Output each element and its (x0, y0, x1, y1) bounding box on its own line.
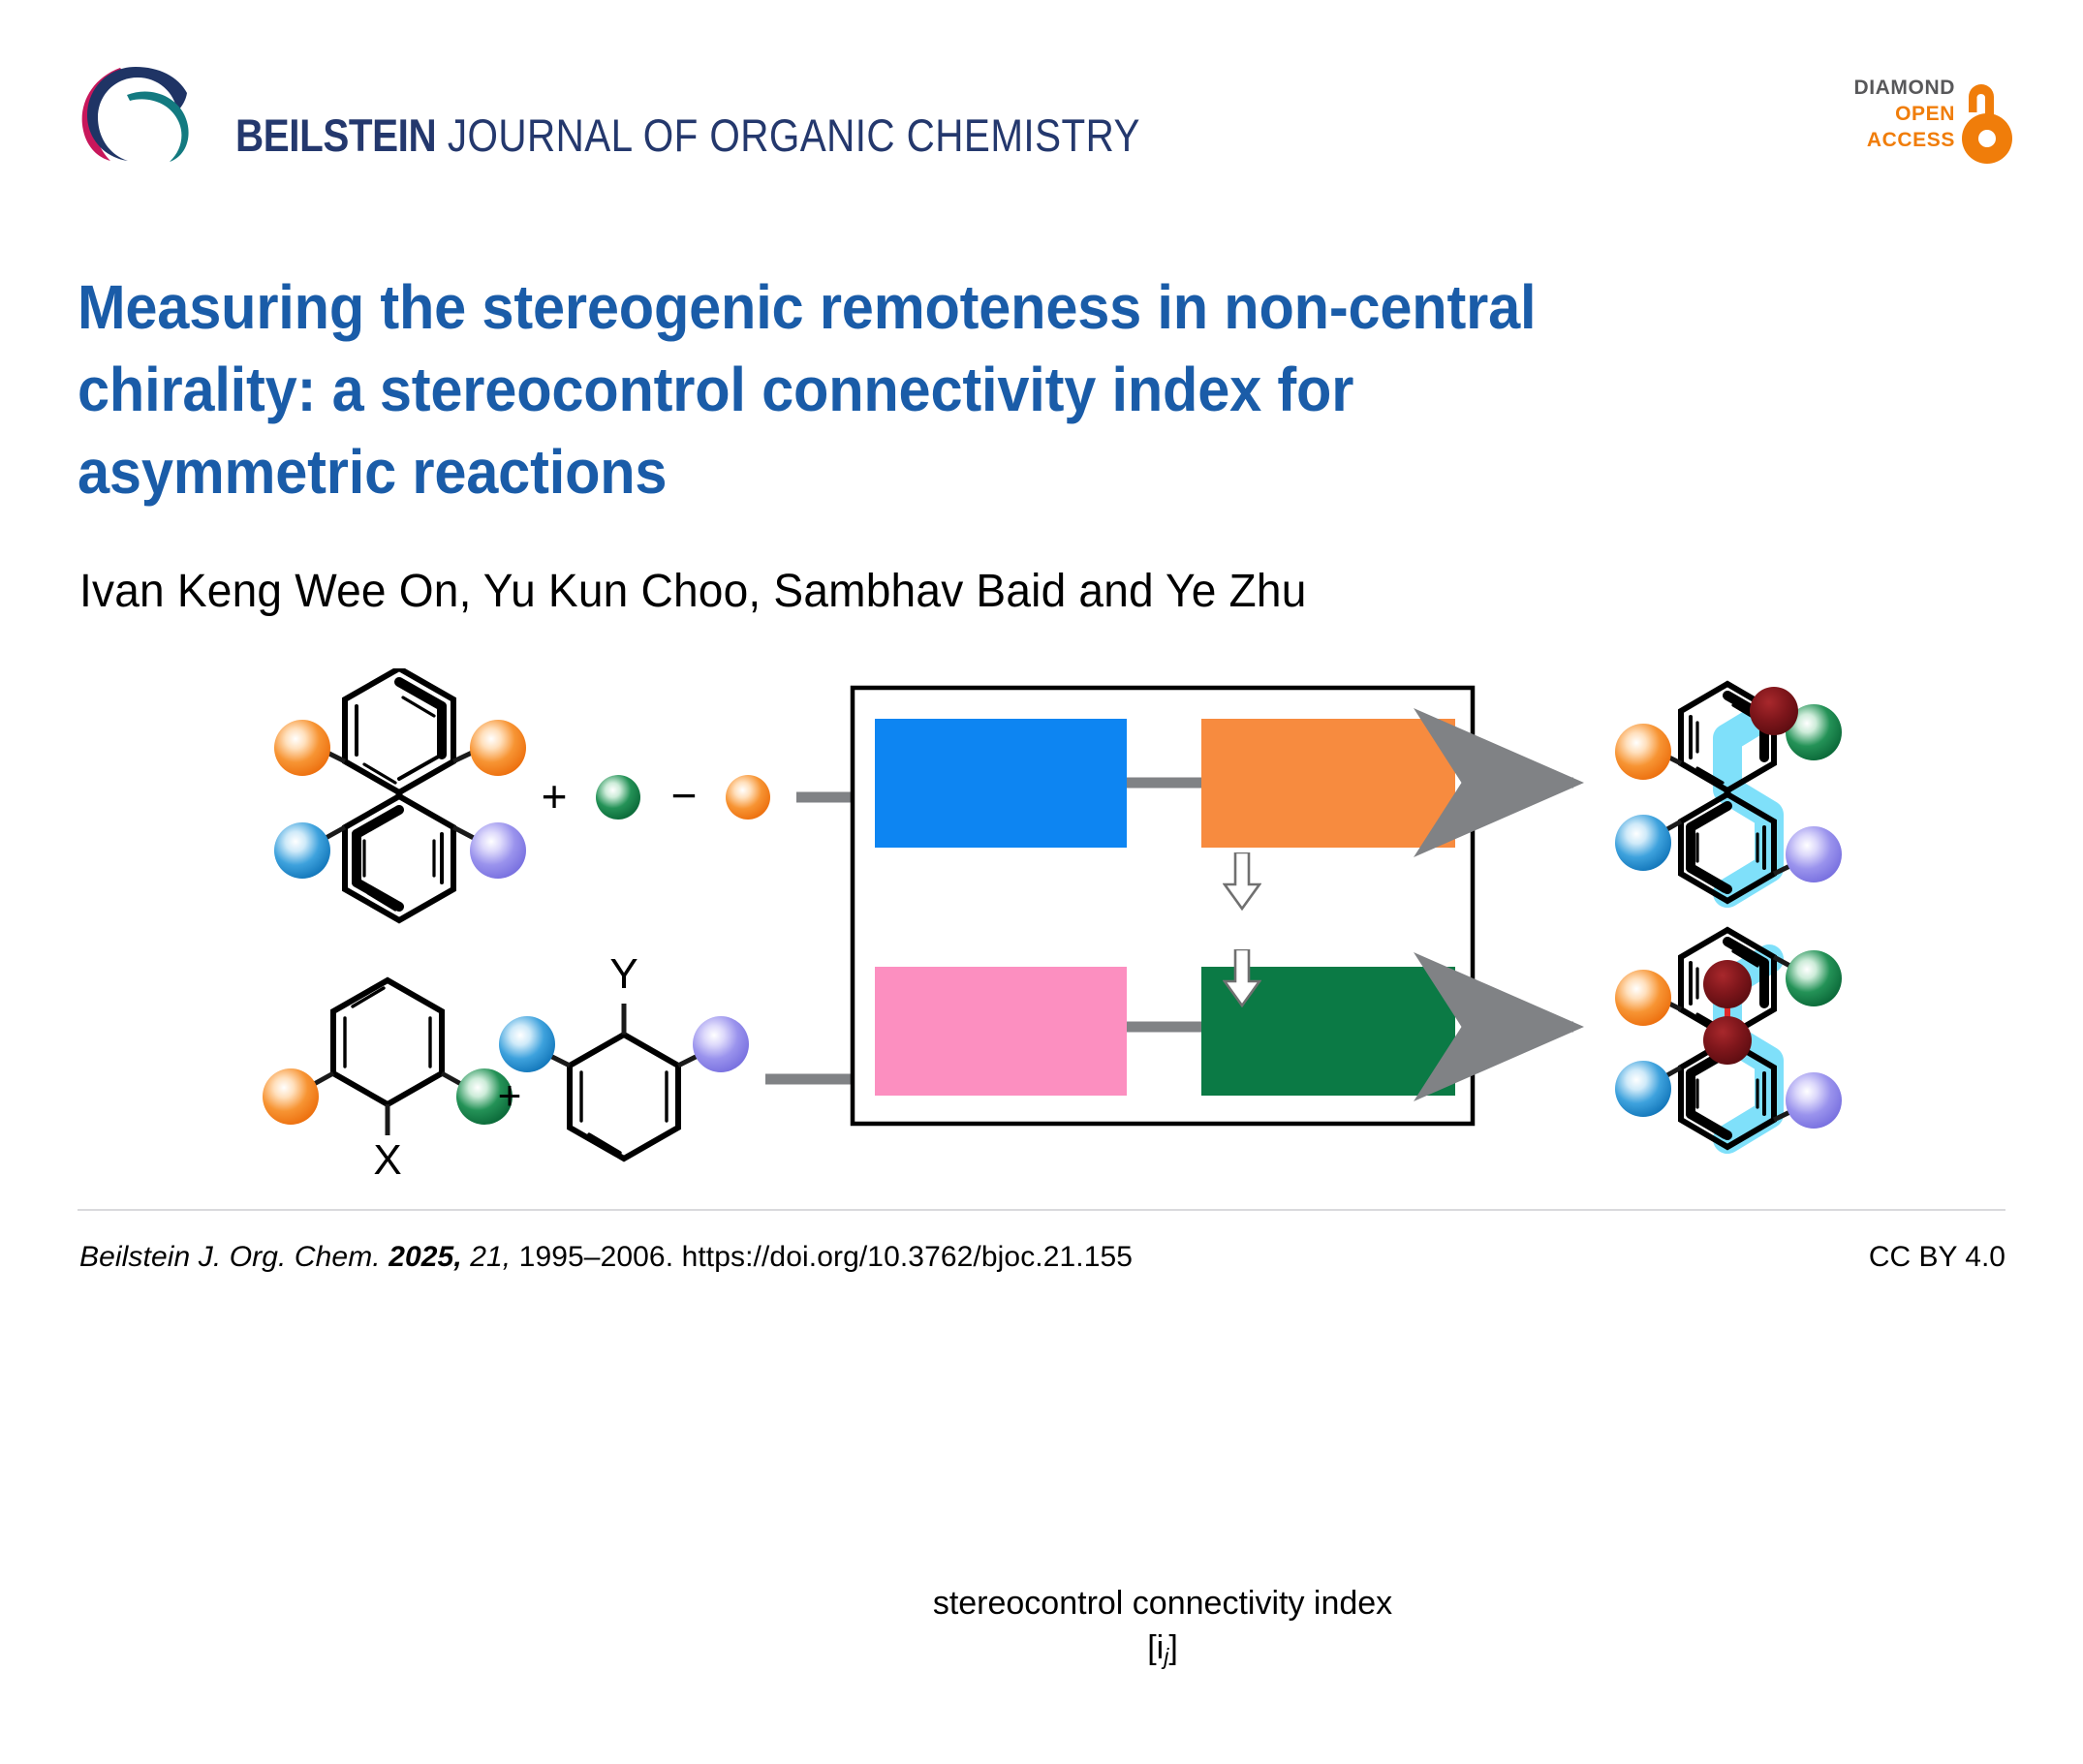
sphere-purple (1786, 826, 1842, 882)
sphere-blue (274, 822, 330, 879)
box-stereochemical-differentiation-label: stereochemical differentiation (1201, 1387, 1455, 1516)
box-stereochem-line2: differentiation (1222, 1452, 1435, 1489)
page-title: Measuring the stereogenic remoteness in … (78, 266, 1699, 513)
oa-open-label: OPEN (1853, 102, 1955, 128)
box-stereogenic-remoteness-label: stereogenic remoteness (875, 1635, 1127, 1764)
footer-divider (78, 1209, 2005, 1211)
index-symbol-subscript: j (1164, 1644, 1168, 1669)
box-path-line2: stereocontrol (1227, 1700, 1431, 1737)
title-line-3: asymmetric reactions (78, 431, 1699, 513)
sphere-purple (1786, 1072, 1842, 1129)
sphere-purple (470, 822, 526, 879)
box-bond-cleavage (875, 719, 1127, 848)
sphere-orange (1615, 970, 1671, 1026)
box-bond-cleavage-label: bond cleavage /formation (875, 1387, 1127, 1516)
reactant-top-operators: + − (542, 770, 770, 821)
title-line-1: Measuring the stereogenic remoteness in … (78, 266, 1699, 349)
center-caption: stereocontrol connectivity index (853, 1585, 1473, 1623)
box-stereogenic-line2: remoteness (911, 1700, 1090, 1737)
page-header: BEILSTEIN JOURNAL OF ORGANIC CHEMISTRY D… (0, 0, 2083, 208)
product-bottom-structure (1615, 930, 1842, 1147)
center-scheme-box (853, 688, 1473, 1124)
sphere-orange (1615, 724, 1671, 780)
sphere-orange (470, 720, 526, 776)
sphere-orange (274, 720, 330, 776)
center-caption-text: stereocontrol connectivity index (933, 1585, 1392, 1622)
sphere-blue (1615, 1061, 1671, 1117)
oa-access-label: ACCESS (1853, 128, 1955, 154)
sphere-green (1786, 950, 1842, 1006)
beilstein-spiral-logo (76, 61, 200, 162)
box-stereochemical-differentiation (1201, 719, 1455, 848)
box-stereogenic-line1: stereogenic (911, 1662, 1090, 1699)
stereocenter-marker-top (1703, 960, 1752, 1008)
index-symbol-suffix: ] (1168, 1629, 1177, 1666)
sphere-blue (1615, 815, 1671, 871)
leaving-group-label: X (373, 1136, 401, 1182)
oa-diamond-label: DIAMOND (1853, 76, 1955, 102)
sphere-orange-removed (726, 775, 770, 820)
plus-sign-bottom: + (498, 1072, 522, 1118)
center-index-symbol: [ij] (853, 1629, 1473, 1670)
sphere-blue (499, 1016, 555, 1072)
sphere-purple (693, 1016, 749, 1072)
author-list: Ivan Keng Wee On, Yu Kun Choo, Sambhav B… (79, 565, 1307, 618)
incoming-group-label: Y (609, 950, 637, 998)
box-path-line1: path of (1275, 1662, 1382, 1699)
citation-line: Beilstein J. Org. Chem. 2025, 21, 1995–2… (79, 1241, 1133, 1274)
citation-volume: 21, (470, 1241, 511, 1273)
graphical-abstract: + − X + Y (0, 668, 2083, 1182)
reactant-top-structure (274, 668, 526, 920)
journal-title: BEILSTEIN JOURNAL OF ORGANIC CHEMISTRY (235, 108, 1140, 162)
box-bond-cleavage-line1: bond cleavage (889, 1414, 1111, 1451)
journal-title-bold: BEILSTEIN (235, 109, 436, 161)
open-lock-icon (1959, 77, 2015, 165)
reactant-bottom-structure-left: X (263, 980, 513, 1182)
box-bond-cleavage-line2: /formation (922, 1452, 1078, 1489)
citation-pages-doi: 1995–2006. https://doi.org/10.3762/bjoc.… (511, 1241, 1133, 1273)
product-top-structure (1615, 684, 1842, 901)
box-stereochem-line1: stereochemical (1212, 1414, 1445, 1451)
citation-journal: Beilstein J. Org. Chem. (79, 1241, 381, 1273)
citation-year: 2025, (389, 1241, 462, 1273)
reactant-bottom-structure-right: Y (499, 950, 749, 1159)
sphere-green-added (596, 775, 640, 820)
stereocenter-marker (1750, 687, 1798, 735)
box-path-of-stereocontrol-label: path of stereocontrol (1201, 1635, 1455, 1764)
stereocenter-marker-bottom (1703, 1016, 1752, 1065)
open-access-text: DIAMOND OPEN ACCESS (1853, 76, 1955, 154)
box-stereogenic-remoteness (875, 967, 1127, 1096)
index-symbol-prefix: [i (1147, 1629, 1164, 1666)
minus-sign-top: − (671, 770, 698, 820)
diamond-open-access-badge: DIAMOND OPEN ACCESS (1836, 76, 2015, 184)
journal-title-regular: JOURNAL OF ORGANIC CHEMISTRY (436, 109, 1140, 161)
plus-sign-top: + (542, 771, 568, 821)
license-label: CC BY 4.0 (1869, 1241, 2005, 1274)
sphere-orange (263, 1068, 319, 1125)
title-line-2: chirality: a stereocontrol connectivity … (78, 349, 1699, 431)
